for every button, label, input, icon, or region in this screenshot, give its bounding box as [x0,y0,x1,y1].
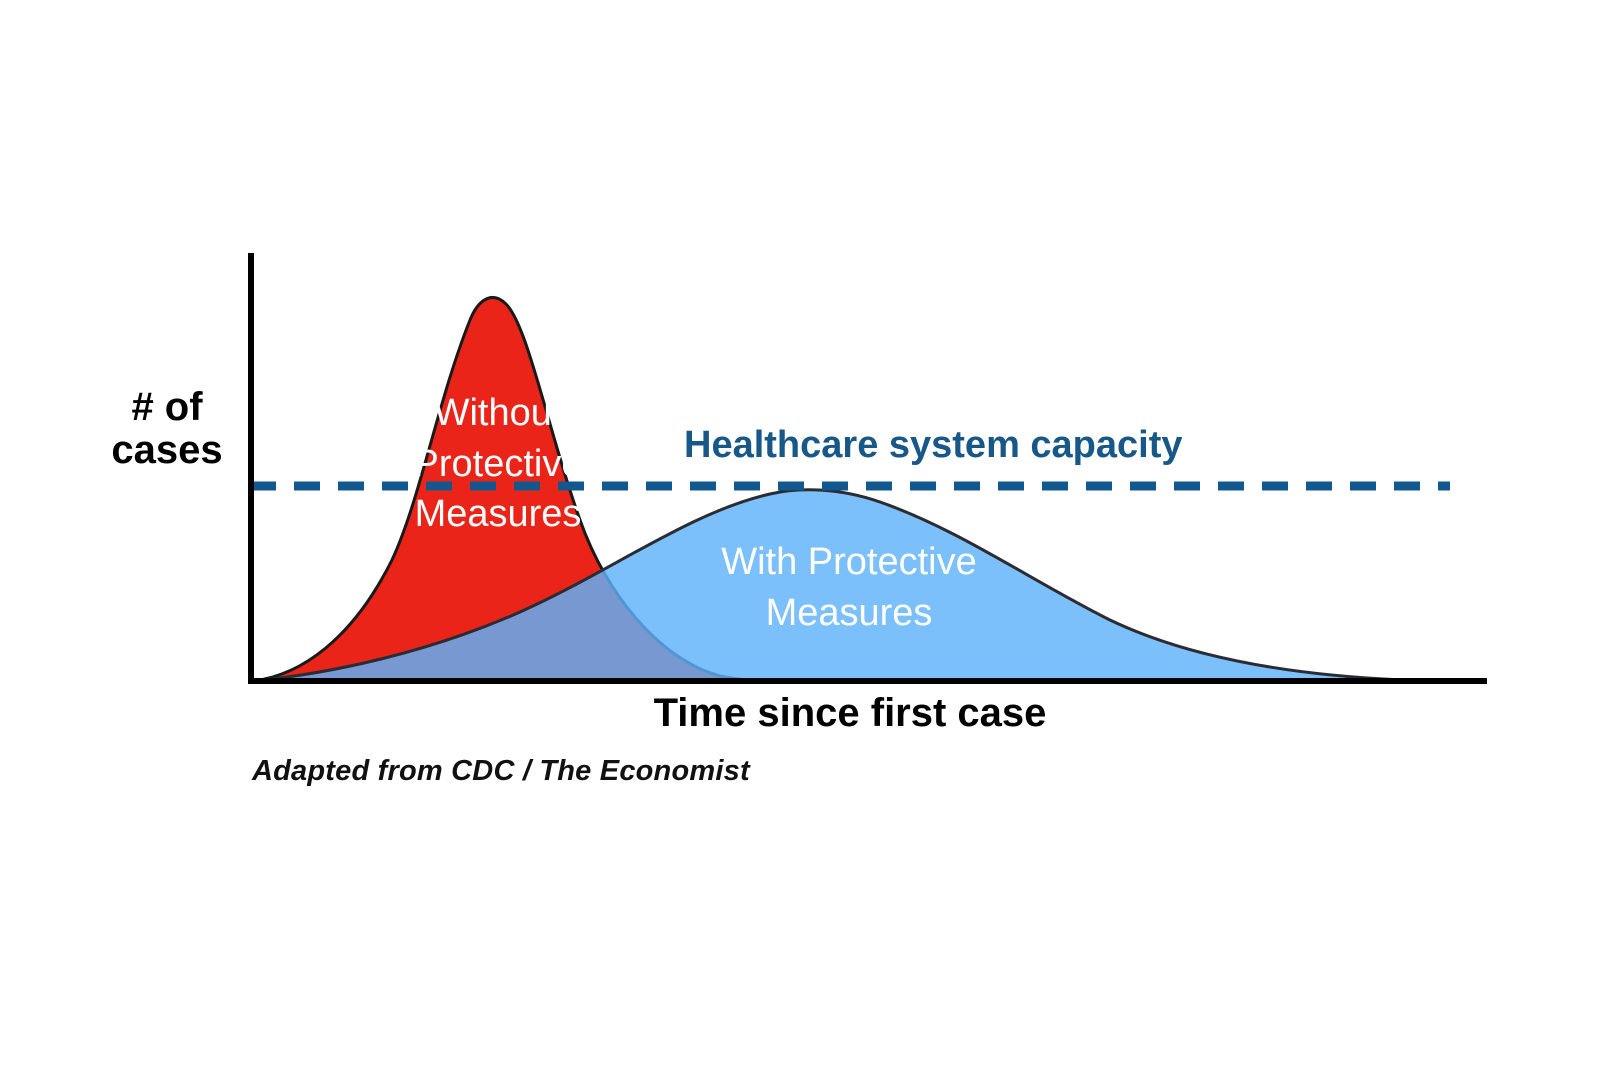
healthcare-capacity-label: Healthcare system capacity [684,425,1183,466]
attribution-text: Adapted from CDC / The Economist [252,756,750,787]
chart-canvas [0,0,1600,1066]
x-axis-label: Time since first case [560,692,1140,735]
curve-label-without-protective-measures: Without Protective Measures [398,388,598,540]
y-axis-label: # of cases [92,386,242,472]
curve-label-with-protective-measures: With Protective Measures [684,537,1014,638]
epidemic-curve-figure: # of cases Time since first case Adapted… [0,0,1600,1066]
